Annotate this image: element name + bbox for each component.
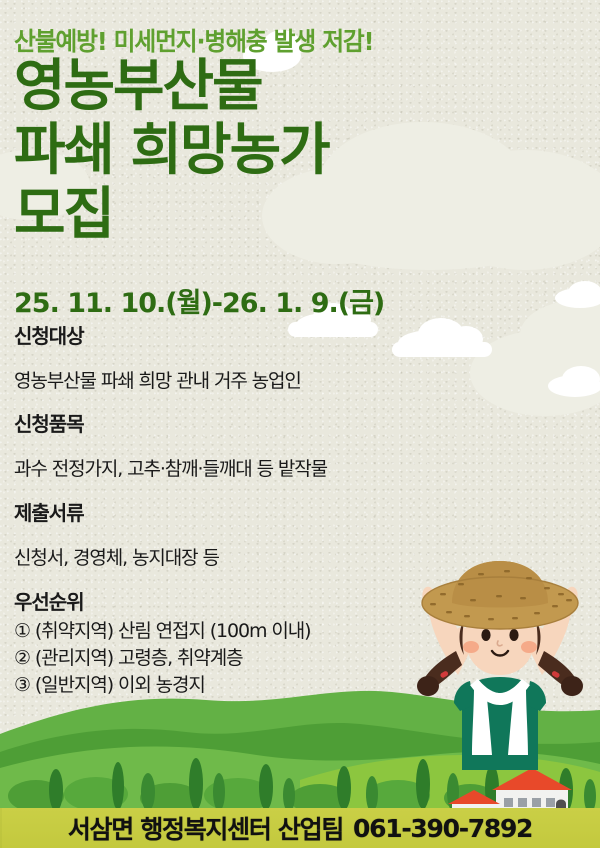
headline-line-2: 파쇄 희망농가	[14, 119, 484, 183]
section-title-eligibility: 신청대상	[14, 320, 484, 349]
section-title-documents: 제출서류	[14, 497, 484, 526]
footer-contact-band: 서삼면 행정복지센터 산업팀 061-390-7892	[0, 808, 600, 848]
priority-list: ① (취약지역) 산림 연접지 (100m 이내) ② (관리지역) 고령층, …	[14, 618, 484, 699]
section-body-items: 과수 전정가지, 고추·참깨·들깨대 등 밭작물	[14, 456, 484, 482]
section-documents: 제출서류 신청서, 경영체, 농지대장 등	[14, 497, 484, 590]
footer-office-name: 서삼면 행정복지센터 산업팀	[68, 810, 343, 846]
section-title-priority: 우선순위	[14, 586, 484, 615]
priority-item-2: ② (관리지역) 고령층, 취약계층	[14, 645, 484, 672]
kicker-headline: 산불예방! 미세먼지·병해충 발생 저감!	[14, 22, 373, 58]
priority-item-1: ① (취약지역) 산림 연접지 (100m 이내)	[14, 618, 484, 645]
headline-line-3: 모집	[14, 183, 484, 247]
headline-line-1: 영농부산물	[14, 55, 484, 119]
section-body-documents: 신청서, 경영체, 농지대장 등	[14, 545, 484, 571]
section-items: 신청품목 과수 전정가지, 고추·참깨·들깨대 등 밭작물	[14, 408, 484, 501]
section-eligibility: 신청대상 영농부산물 파쇄 희망 관내 거주 농업인	[14, 320, 484, 413]
section-body-eligibility: 영농부산물 파쇄 희망 관내 거주 농업인	[14, 368, 484, 394]
section-priority: 우선순위 ① (취약지역) 산림 연접지 (100m 이내) ② (관리지역) …	[14, 586, 484, 699]
footer-phone-number[interactable]: 061-390-7892	[353, 814, 532, 843]
priority-item-3: ③ (일반지역) 이외 농경지	[14, 672, 484, 699]
application-period: 25. 11. 10.(월)-26. 1. 9.(금)	[14, 281, 384, 320]
poster-canvas: 산불예방! 미세먼지·병해충 발생 저감! 영농부산물 파쇄 희망농가 모집 2…	[0, 0, 600, 848]
section-title-items: 신청품목	[14, 408, 484, 437]
main-headline: 영농부산물 파쇄 희망농가 모집	[14, 55, 484, 247]
